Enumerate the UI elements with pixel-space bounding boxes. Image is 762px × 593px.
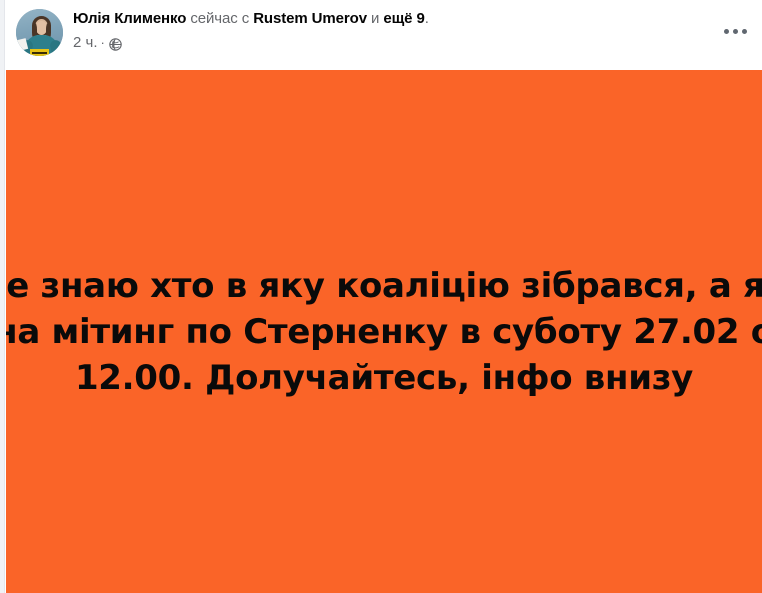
page-left-gutter — [0, 0, 5, 593]
poster-text-block: Не знаю хто в яку коаліцію зібрався, а я… — [6, 70, 762, 593]
byline: Юлія Клименко сейчас с Rustem Umerov и е… — [73, 9, 693, 29]
tagged-person-link[interactable]: Rustem Umerov — [253, 10, 367, 27]
post-header-text: Юлія Клименко сейчас с Rustem Umerov и е… — [73, 9, 693, 52]
meta-separator-dot: · — [101, 34, 105, 52]
post-options-button[interactable] — [717, 19, 753, 43]
author-name[interactable]: Юлія Клименко — [73, 10, 186, 27]
globe-icon[interactable] — [109, 38, 122, 51]
poster-line: 12.00. Долучайтесь, інфо внизу — [75, 355, 693, 401]
with-prefix-label: сейчас с — [190, 10, 249, 27]
facebook-post-screenshot: Юлія Клименко сейчас с Rustem Umerov и е… — [0, 0, 762, 593]
poster-line: Не знаю хто в яку коаліцію зібрався, а я… — [6, 263, 762, 309]
byline-trailing-period: . — [425, 10, 429, 27]
ellipsis-dot-2 — [733, 29, 738, 34]
post-timestamp[interactable]: 2 ч. — [73, 34, 98, 52]
avatar-yellow-sign-line-1 — [32, 52, 47, 54]
avatar[interactable] — [16, 9, 63, 56]
post-image-attachment[interactable]: Не знаю хто в яку коаліцію зібрався, а я… — [6, 70, 762, 593]
others-count-link[interactable]: ещё 9 — [383, 10, 424, 27]
ellipsis-dot-3 — [742, 29, 747, 34]
poster-line: на мітинг по Стерненку в суботу 27.02 о — [6, 309, 762, 355]
post-header: Юлія Клименко сейчас с Rustem Umerov и е… — [5, 0, 762, 70]
post-meta-row: 2 ч. · — [73, 34, 693, 52]
ellipsis-dot-1 — [724, 29, 729, 34]
